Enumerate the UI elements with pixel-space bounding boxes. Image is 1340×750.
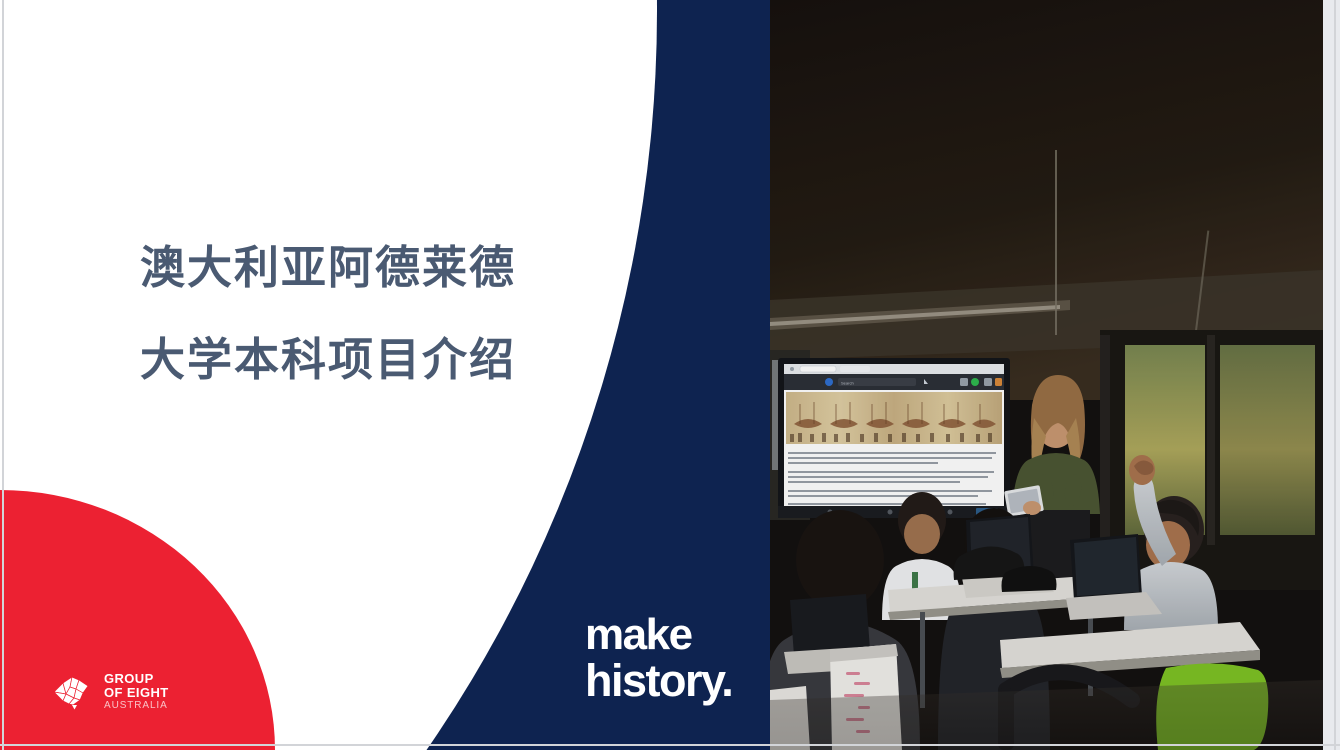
page-title: 澳大利亚阿德莱德 大学本科项目介绍 bbox=[140, 222, 620, 406]
wordmark-line-1: make bbox=[585, 612, 732, 658]
australia-map-icon bbox=[52, 674, 96, 710]
make-history-wordmark: make history. bbox=[585, 612, 732, 704]
left-graphic-panel: 澳大利亚阿德莱德 大学本科项目介绍 make history. bbox=[0, 0, 770, 750]
title-line-2: 大学本科项目介绍 bbox=[140, 314, 620, 406]
go8-line-3: AUSTRALIA bbox=[104, 701, 169, 711]
title-slide: 澳大利亚阿德莱德 大学本科项目介绍 make history. bbox=[0, 0, 1340, 750]
group-of-eight-logo: GROUP OF EIGHT AUSTRALIA bbox=[52, 672, 169, 711]
title-line-1: 澳大利亚阿德莱德 bbox=[140, 222, 620, 314]
go8-line-2: OF EIGHT bbox=[104, 686, 169, 699]
go8-line-1: GROUP bbox=[104, 672, 169, 685]
group-of-eight-wordmark: GROUP OF EIGHT AUSTRALIA bbox=[104, 672, 169, 711]
classroom-photo: Search bbox=[770, 0, 1323, 750]
photo-right-gutter bbox=[1323, 0, 1340, 750]
wordmark-line-2: history. bbox=[585, 658, 732, 704]
